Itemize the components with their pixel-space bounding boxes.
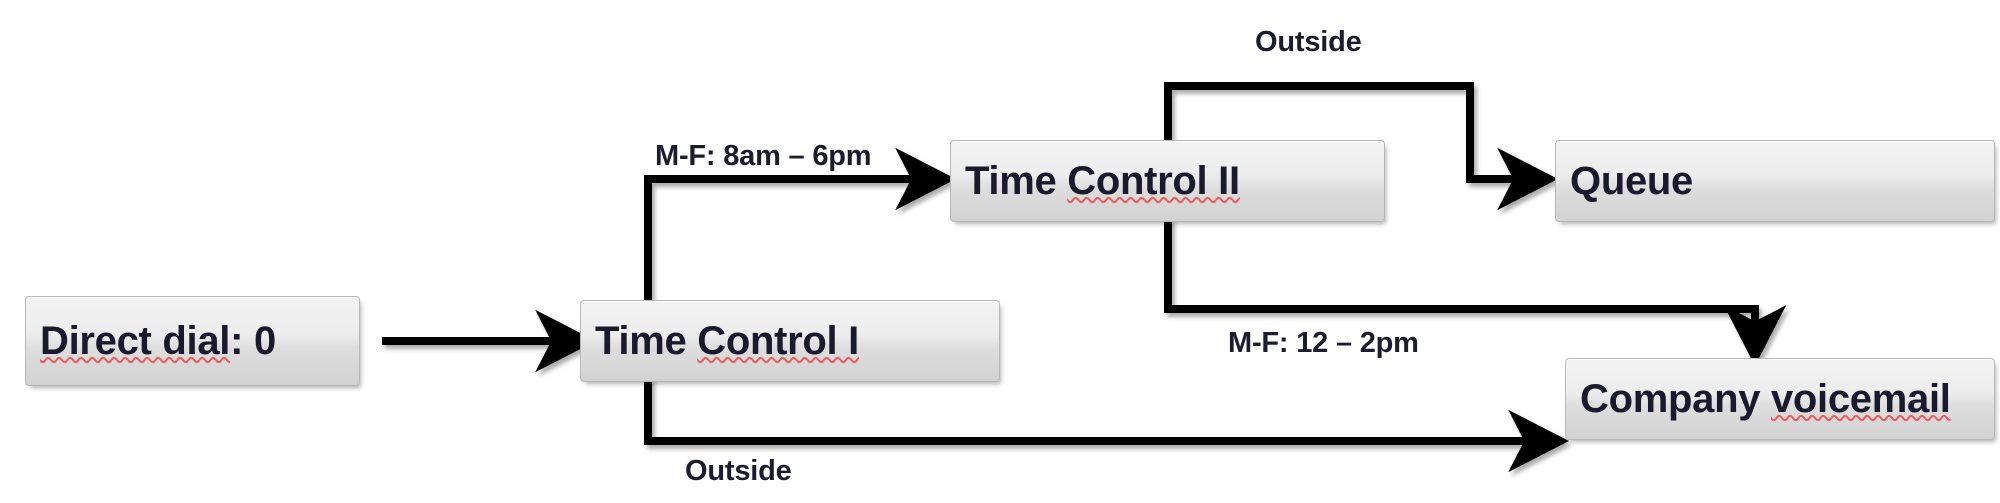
- node-time-control-1-label-misspelled: Control I: [697, 319, 859, 363]
- node-direct-dial-label: Direct dial: 0: [26, 319, 276, 364]
- node-time-control-2-label: Time Control II: [951, 159, 1240, 204]
- connector-time-control-1-to-company-voicemail: [648, 376, 1533, 441]
- connector-time-control-2-to-company-voicemail: [1168, 218, 1755, 330]
- node-time-control-1[interactable]: Time Control I: [580, 300, 1000, 382]
- diagram-canvas: Direct dial: 0 Time Control I Time Contr…: [0, 0, 2000, 503]
- edge-label-mf-12-2pm: M-F: 12 – 2pm: [1228, 327, 1419, 360]
- edge-label-mf-8am-6pm: M-F: 8am – 6pm: [655, 140, 871, 173]
- edge-label-outside-top: Outside: [1255, 26, 1362, 59]
- edge-label-outside-bottom: Outside: [685, 455, 792, 488]
- node-queue-label-clean: Queue: [1570, 159, 1693, 203]
- node-queue-label: Queue: [1556, 159, 1693, 204]
- node-company-voicemail-label-misspelled: voicemail: [1771, 377, 1951, 421]
- node-time-control-2-label-clean: Time: [965, 159, 1067, 203]
- node-company-voicemail-label-clean: Company: [1580, 377, 1771, 421]
- node-time-control-1-label-clean: Time: [595, 319, 697, 363]
- node-direct-dial-label-rest: : 0: [230, 319, 276, 363]
- node-time-control-2-label-misspelled: Control II: [1067, 159, 1240, 203]
- node-company-voicemail[interactable]: Company voicemail: [1565, 358, 1995, 440]
- node-queue[interactable]: Queue: [1555, 140, 1995, 222]
- node-time-control-2[interactable]: Time Control II: [950, 140, 1385, 222]
- node-direct-dial-label-misspelled: Direct dial: [40, 319, 230, 363]
- connector-time-control-1-to-time-control-2: [648, 179, 920, 306]
- node-company-voicemail-label: Company voicemail: [1566, 377, 1951, 422]
- node-time-control-1-label: Time Control I: [581, 319, 859, 364]
- node-direct-dial[interactable]: Direct dial: 0: [25, 296, 360, 386]
